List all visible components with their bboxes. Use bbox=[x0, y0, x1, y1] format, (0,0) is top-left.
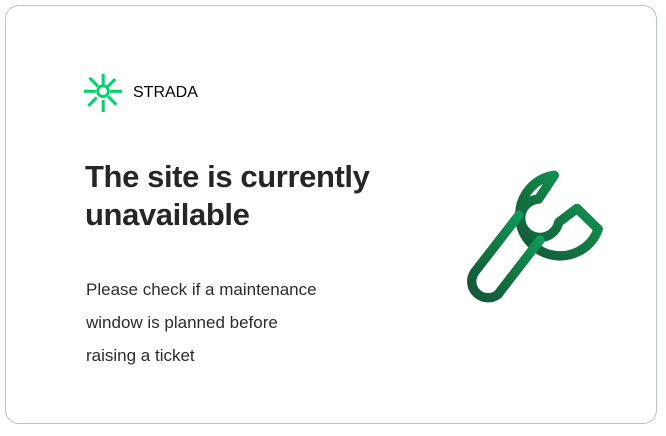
page-description: Please check if a maintenance window is … bbox=[86, 273, 396, 372]
error-page: STRADA The site is currently unavailable… bbox=[0, 0, 666, 436]
wrench-icon bbox=[461, 162, 619, 314]
page-title: The site is currently unavailable bbox=[85, 158, 415, 234]
description-line: Please check if a maintenance bbox=[86, 273, 396, 306]
message-card: STRADA The site is currently unavailable… bbox=[5, 5, 657, 424]
description-line: window is planned before bbox=[86, 306, 396, 339]
brand-wordmark: STRADA bbox=[133, 84, 198, 102]
strada-starburst-icon bbox=[84, 74, 122, 112]
description-line: raising a ticket bbox=[86, 339, 396, 372]
brand-logo: STRADA bbox=[84, 74, 198, 112]
